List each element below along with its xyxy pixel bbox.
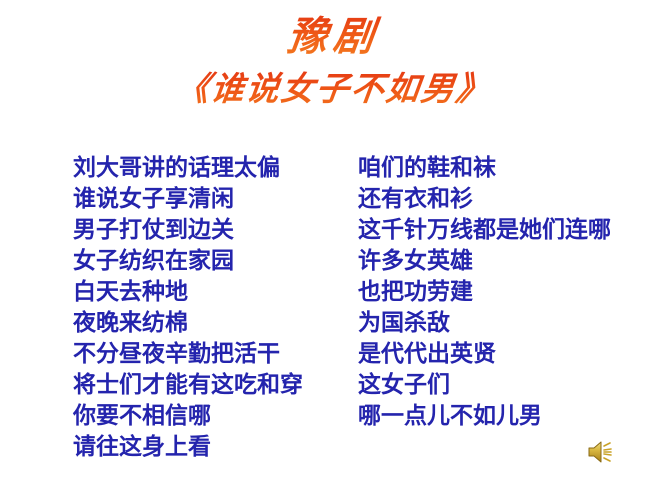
page-title: 豫剧 [0, 14, 667, 60]
lyric-line: 白天去种地 [73, 276, 353, 307]
lyric-line: 请往这身上看 [73, 431, 353, 462]
lyric-line: 这千针万线都是她们连哪 [358, 214, 658, 245]
lyrics-column-left: 刘大哥讲的话理太偏 谁说女子享清闲 男子打仗到边关 女子纺织在家园 白天去种地 … [73, 152, 353, 462]
lyric-line: 夜晚来纺棉 [73, 307, 353, 338]
lyric-line: 为国杀敌 [358, 307, 658, 338]
lyrics-body: 刘大哥讲的话理太偏 谁说女子享清闲 男子打仗到边关 女子纺织在家园 白天去种地 … [0, 152, 667, 482]
presentation-slide: 豫剧 《谁说女子不如男》 刘大哥讲的话理太偏 谁说女子享清闲 男子打仗到边关 女… [0, 0, 667, 500]
lyric-line: 是代代出英贤 [358, 338, 658, 369]
page-subtitle: 《谁说女子不如男》 [0, 70, 667, 108]
title-block: 豫剧 《谁说女子不如男》 [0, 14, 667, 108]
lyrics-column-right: 咱们的鞋和袜 还有衣和衫 这千针万线都是她们连哪 许多女英雄 也把功劳建 为国杀… [358, 152, 658, 431]
lyric-line: 谁说女子享清闲 [73, 183, 353, 214]
lyric-line: 男子打仗到边关 [73, 214, 353, 245]
lyric-line: 刘大哥讲的话理太偏 [73, 152, 353, 183]
lyric-line: 不分昼夜辛勤把活干 [73, 338, 353, 369]
lyric-line: 还有衣和衫 [358, 183, 658, 214]
lyric-line: 许多女英雄 [358, 245, 658, 276]
lyric-line: 你要不相信哪 [73, 400, 353, 431]
lyric-line: 也把功劳建 [358, 276, 658, 307]
speaker-sound-icon[interactable] [586, 437, 618, 467]
lyric-line: 哪一点儿不如儿男 [358, 400, 658, 431]
lyric-line: 女子纺织在家园 [73, 245, 353, 276]
lyric-line: 咱们的鞋和袜 [358, 152, 658, 183]
lyric-line: 将士们才能有这吃和穿 [73, 369, 353, 400]
lyric-line: 这女子们 [358, 369, 658, 400]
